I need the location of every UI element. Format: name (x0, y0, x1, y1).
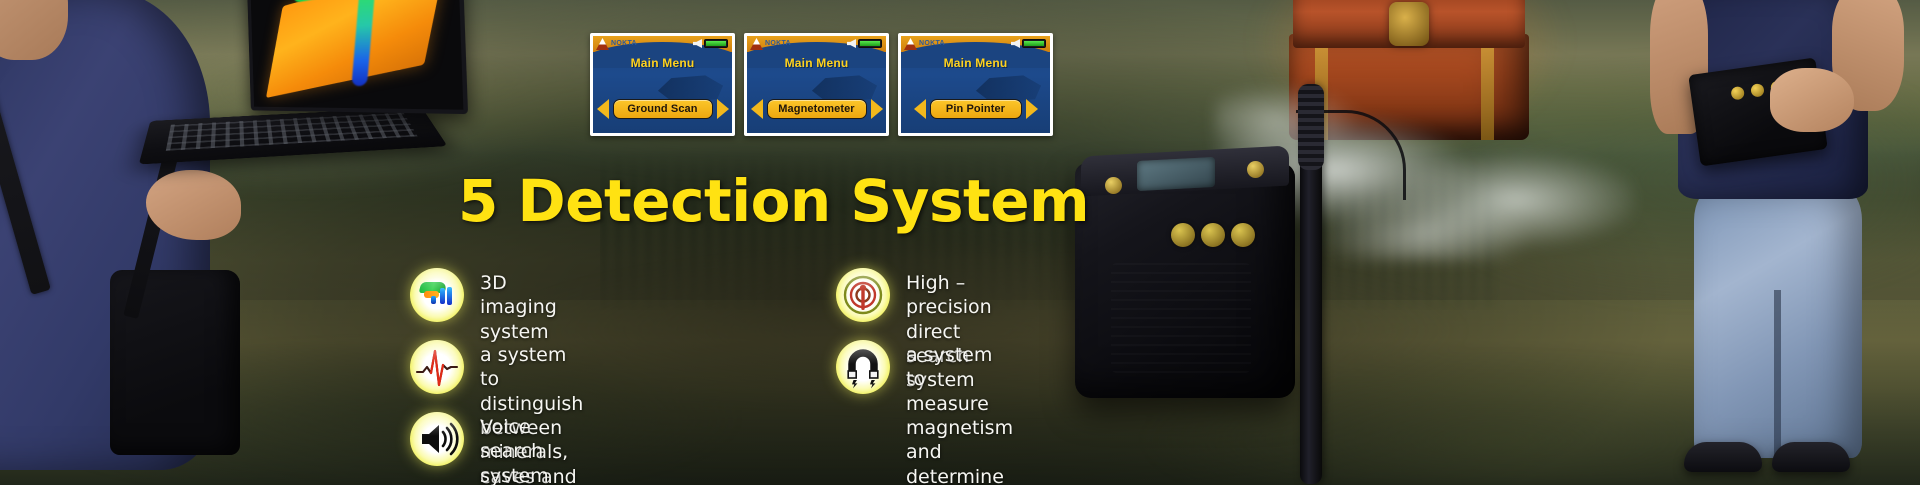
feature-label: Voice search system (480, 412, 549, 485)
detector-case-texture (1111, 263, 1251, 373)
selected-mode-label[interactable]: Magnetometer (767, 99, 867, 119)
promo-banner: NOKTA Main Menu Ground Scan NOKTA (0, 0, 1920, 485)
card-mode-selector[interactable]: Pin Pointer (901, 99, 1050, 119)
ecg-waveform-glyph (410, 340, 464, 394)
feature-item-voice-search: Voice search system (410, 412, 549, 485)
menu-screenshot-row: NOKTA Main Menu Ground Scan NOKTA (590, 33, 970, 138)
3d-imaging-icon (410, 268, 464, 322)
radar-target-icon (836, 268, 890, 322)
operator-shoe-right (1772, 442, 1850, 472)
selected-mode-label[interactable]: Ground Scan (613, 99, 713, 119)
detector-connector-2 (1201, 223, 1225, 247)
operator-with-detector-photo (1650, 0, 1920, 485)
radar-target-glyph (836, 268, 890, 322)
headline-title: 5 Detection System (458, 172, 1098, 230)
operator-shoe-left (1684, 442, 1762, 472)
battery-icon (704, 39, 728, 48)
card-title: Main Menu (901, 56, 1050, 70)
horseshoe-magnet-glyph (836, 340, 890, 394)
laptop-with-3d-scan (148, 0, 448, 174)
detector-main-unit (1075, 163, 1295, 398)
control-box-connector-2 (1750, 83, 1765, 98)
next-arrow-icon[interactable] (871, 99, 883, 119)
next-arrow-icon[interactable] (717, 99, 729, 119)
battery-icon (858, 39, 882, 48)
card-title: Main Menu (593, 56, 732, 70)
detector-port-cap-right (1247, 161, 1264, 178)
laptop-screen (247, 0, 468, 114)
laptop-keyboard (166, 112, 418, 150)
card-mode-selector[interactable]: Magnetometer (747, 99, 886, 119)
ecg-waveform-icon (410, 340, 464, 394)
prev-arrow-icon[interactable] (597, 99, 609, 119)
detector-connector-3 (1231, 223, 1255, 247)
feature-item-3d-imaging: 3D imaging system (410, 268, 557, 344)
selected-mode-label[interactable]: Pin Pointer (930, 99, 1022, 119)
card-brand-label: NOKTA (919, 38, 945, 49)
laptop-base (139, 107, 448, 165)
detector-pole-grip (1298, 84, 1324, 170)
menu-card-ground-scan[interactable]: NOKTA Main Menu Ground Scan (590, 33, 735, 136)
detector-connector-row (1171, 223, 1255, 249)
next-arrow-icon[interactable] (1026, 99, 1038, 119)
feature-label: 3D imaging system (480, 268, 557, 344)
detector-display (1137, 157, 1215, 191)
card-brand-label: NOKTA (765, 38, 791, 49)
magnet-icon (836, 340, 890, 394)
operator-right-hand (1770, 68, 1854, 132)
control-box-connector-1 (1730, 86, 1745, 101)
battery-icon (1022, 39, 1046, 48)
card-title: Main Menu (747, 56, 886, 70)
detector-port-cap-left (1105, 177, 1122, 194)
menu-card-pin-pointer[interactable]: NOKTA Main Menu Pin Pointer (898, 33, 1053, 136)
feature-item-magnetism: a system to measure magnetism and determ… (836, 340, 1013, 485)
menu-card-magnetometer[interactable]: NOKTA Main Menu Magnetometer (744, 33, 889, 136)
prev-arrow-icon[interactable] (914, 99, 926, 119)
detector-connector-1 (1171, 223, 1195, 247)
feature-label: a system to measure magnetism and determ… (906, 340, 1013, 485)
speaker-icon (410, 412, 464, 466)
card-brand-label: NOKTA (611, 38, 637, 49)
prev-arrow-icon[interactable] (751, 99, 763, 119)
card-mode-selector[interactable]: Ground Scan (593, 99, 732, 119)
speaker-glyph (410, 412, 464, 466)
operator-leg-seam (1774, 290, 1781, 460)
